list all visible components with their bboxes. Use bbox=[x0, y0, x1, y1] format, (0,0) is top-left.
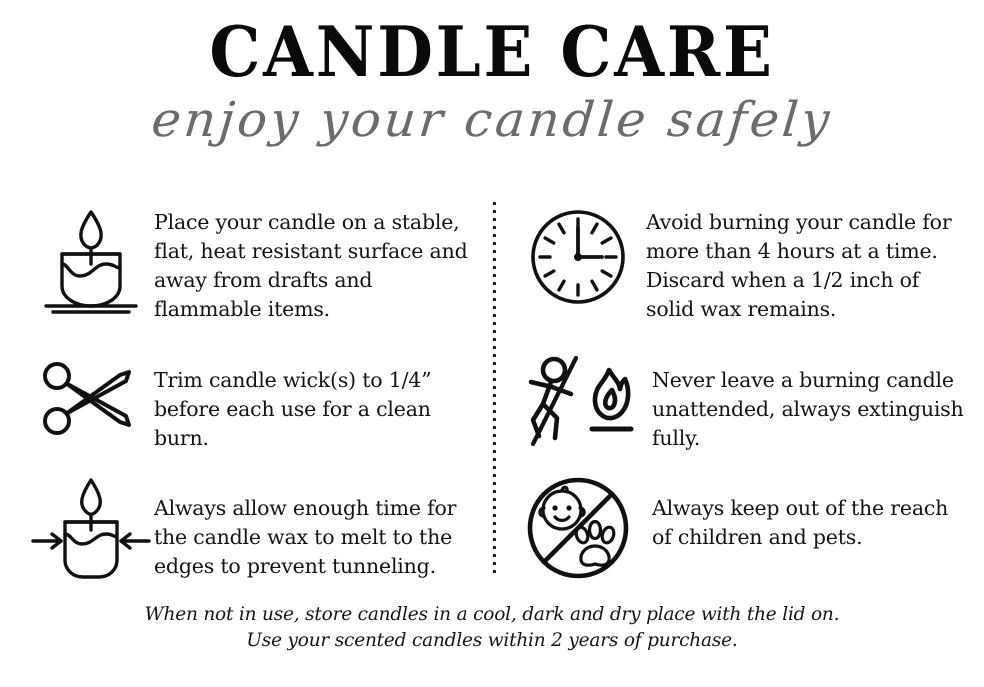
page-title: CANDLE CARE bbox=[34, 18, 949, 87]
footer-line-1: When not in use, store candles in a cool… bbox=[0, 602, 984, 628]
page-subtitle: enjoy your candle safely bbox=[0, 96, 984, 144]
tip-text: Never leave a burning candle unattended,… bbox=[652, 356, 970, 453]
tips-grid: Place your candle on a stable, flat, hea… bbox=[0, 196, 984, 586]
tip-prevent-tunneling: Always allow enough time for the candle … bbox=[28, 474, 483, 586]
tip-stable-surface: Place your candle on a stable, flat, hea… bbox=[28, 202, 483, 324]
tip-text: Always keep out of the reach of children… bbox=[652, 474, 970, 552]
header: CANDLE CARE enjoy your candle safely bbox=[0, 0, 984, 190]
tip-text: Place your candle on a stable, flat, hea… bbox=[154, 202, 483, 324]
candle-on-surface-icon bbox=[28, 202, 154, 320]
tip-burn-time-limit: Avoid burning your candle for more than … bbox=[518, 202, 970, 324]
tip-never-unattended: Never leave a burning candle unattended,… bbox=[518, 356, 970, 453]
clock-icon bbox=[518, 202, 638, 312]
scissors-icon bbox=[28, 356, 154, 442]
tip-text: Trim candle wick(s) to 1/4” before each … bbox=[154, 356, 483, 453]
tip-keep-away-children-pets: Always keep out of the reach of children… bbox=[518, 474, 970, 582]
no-children-pets-icon bbox=[518, 474, 638, 582]
no-running-from-fire-icon bbox=[518, 356, 638, 448]
footer-line-2: Use your scented candles within 2 years … bbox=[0, 628, 984, 654]
tip-text: Always allow enough time for the candle … bbox=[154, 474, 483, 581]
footer-note: When not in use, store candles in a cool… bbox=[0, 602, 984, 654]
candle-melt-to-edges-icon bbox=[28, 474, 154, 586]
tip-trim-wick: Trim candle wick(s) to 1/4” before each … bbox=[28, 356, 483, 453]
candle-care-card: CANDLE CARE enjoy your candle safely bbox=[0, 0, 984, 687]
tip-text: Avoid burning your candle for more than … bbox=[646, 202, 970, 324]
